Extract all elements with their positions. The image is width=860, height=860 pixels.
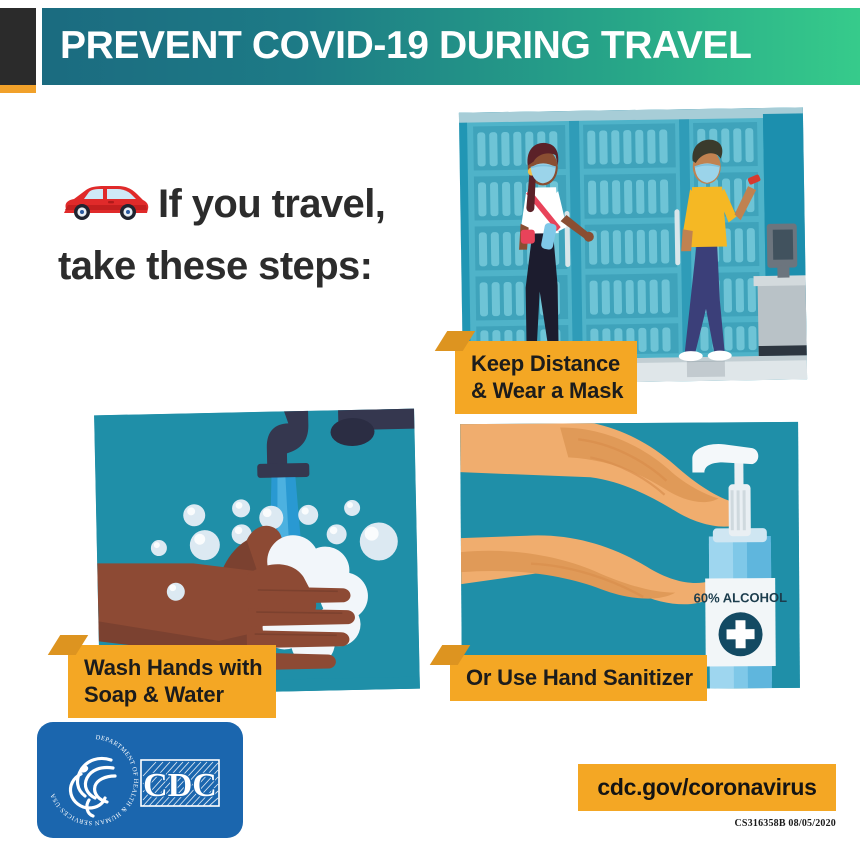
headline: If you travel, take these steps: <box>58 176 478 294</box>
headline-line-1: If you travel, <box>158 182 385 226</box>
header-dark-block <box>0 8 36 85</box>
caption-hand-sanitizer: Or Use Hand Sanitizer <box>450 655 707 701</box>
caption-keep-distance: Keep Distance & Wear a Mask <box>455 341 637 414</box>
infographic-canvas: PREVENT COVID-19 DURING TRAVEL <box>0 0 860 860</box>
bottle-label-text: 60% ALCOHOL <box>694 590 788 606</box>
cdc-url-badge[interactable]: cdc.gov/coronavirus <box>578 764 836 811</box>
header-orange-strip <box>0 85 36 93</box>
hhs-cdc-logo: DEPARTMENT OF HEALTH & HUMAN SERVICES·US… <box>37 722 243 838</box>
cdc-wordmark: CDC <box>143 767 217 804</box>
page-title: PREVENT COVID-19 DURING TRAVEL <box>60 19 850 73</box>
car-icon <box>58 181 150 238</box>
caption-wash-hands: Wash Hands with Soap & Water <box>68 645 276 718</box>
hhs-seal-text: DEPARTMENT OF HEALTH & HUMAN SERVICES·US… <box>49 734 139 826</box>
headline-line-2: take these steps: <box>58 238 478 294</box>
cdc-url-text: cdc.gov/coronavirus <box>597 774 816 801</box>
panel-hand-sanitizer: 60% ALCOHOL <box>460 422 800 690</box>
publication-code: CS316358B 08/05/2020 <box>578 818 846 829</box>
